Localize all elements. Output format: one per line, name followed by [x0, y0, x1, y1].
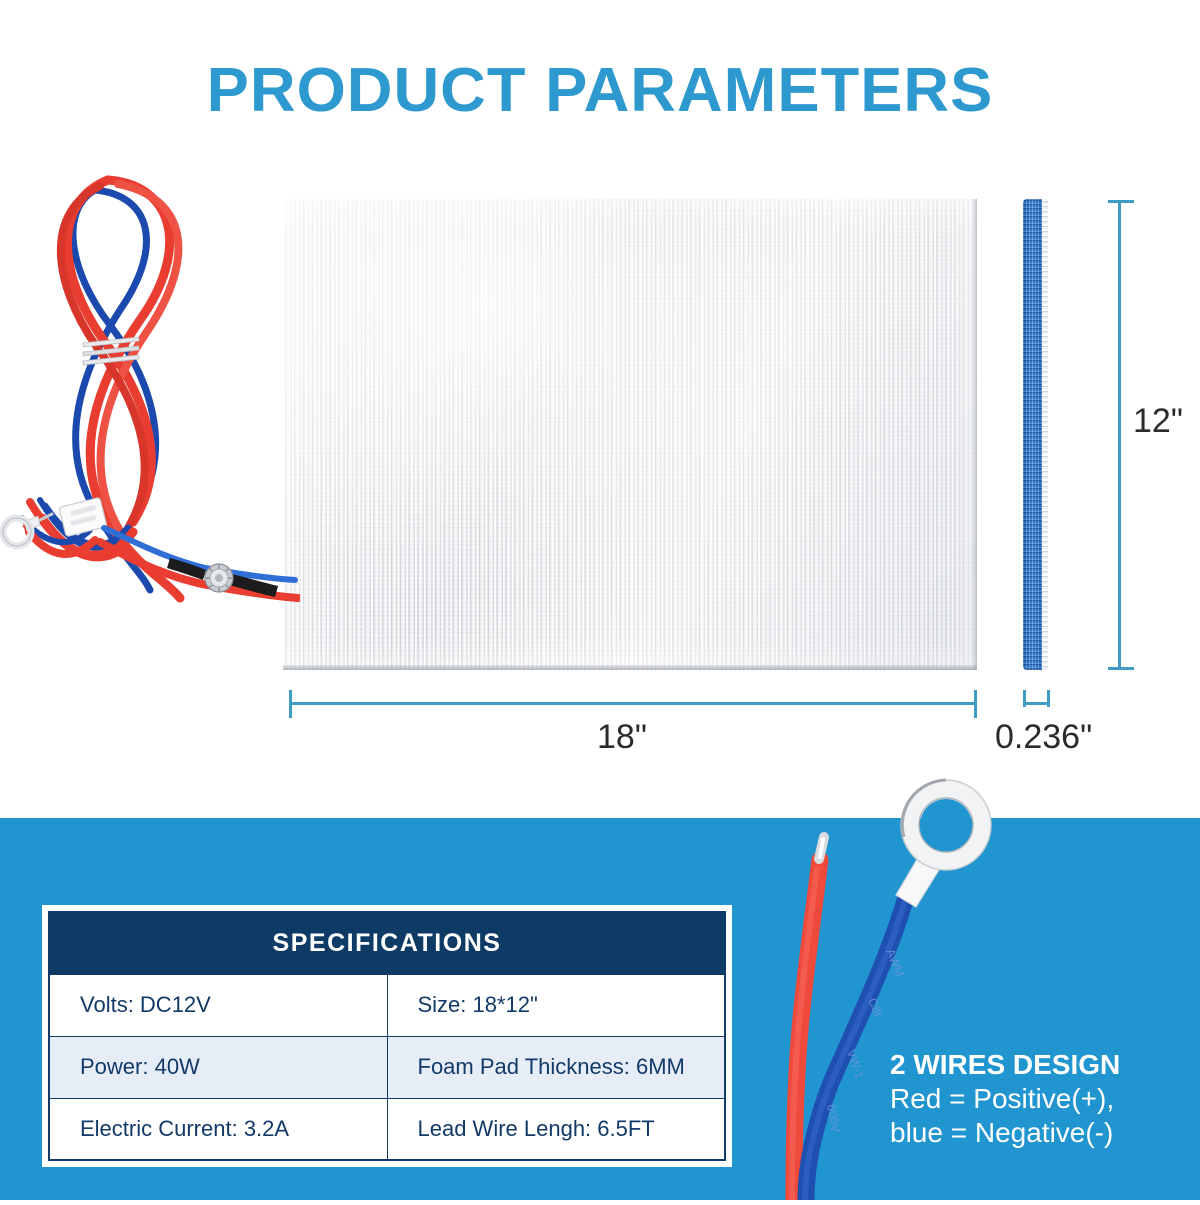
spec-cell-wire-length: Lead Wire Lengh: 6.5FT: [387, 1098, 725, 1160]
thickness-dimension-cap-right: [1047, 690, 1050, 707]
thermostat-disc: [205, 564, 233, 592]
wire-print-600v: 600V: [824, 1103, 843, 1133]
width-dimension-cap-left: [289, 690, 292, 718]
spec-cell-volts: Volts: DC12V: [49, 974, 387, 1036]
product-parameters-page: PRODUCT PARAMETERS: [0, 0, 1200, 1200]
height-dimension-line: [1118, 200, 1121, 670]
specifications-panel: SPECIFICATIONS Volts: DC12V Size: 18*12"…: [42, 905, 732, 1167]
pad-bottom-edge: [283, 665, 977, 670]
foam-strip-image: [1023, 199, 1048, 670]
top-product-diagram-section: PRODUCT PARAMETERS: [0, 0, 1200, 818]
two-wires-blue-line: blue = Negative(-): [890, 1116, 1190, 1150]
wire-harness-image: [0, 150, 300, 650]
table-row: Power: 40W Foam Pad Thickness: 6MM: [49, 1036, 725, 1098]
foam-strip-silver-film: [1042, 199, 1048, 670]
specifications-table: SPECIFICATIONS Volts: DC12V Size: 18*12"…: [48, 911, 726, 1161]
height-dimension-cap-bottom: [1108, 667, 1134, 670]
specifications-header: SPECIFICATIONS: [49, 912, 725, 974]
spec-cell-size: Size: 18*12": [387, 974, 725, 1036]
pad-right-edge: [973, 199, 977, 670]
spec-cell-thickness: Foam Pad Thickness: 6MM: [387, 1036, 725, 1098]
spec-cell-current: Electric Current: 3.2A: [49, 1098, 387, 1160]
width-dimension-label: 18": [597, 718, 647, 757]
spec-cell-power: Power: 40W: [49, 1036, 387, 1098]
heating-pad-image: [283, 199, 977, 670]
page-title: PRODUCT PARAMETERS: [0, 55, 1200, 126]
width-dimension-cap-right: [974, 690, 977, 718]
thickness-dimension-line: [1023, 702, 1050, 705]
thickness-dimension-cap-left: [1023, 690, 1026, 707]
jst-connector: [59, 497, 107, 536]
height-dimension-label: 12": [1133, 402, 1183, 441]
height-dimension-cap-top: [1108, 200, 1134, 203]
table-row: Volts: DC12V Size: 18*12": [49, 974, 725, 1036]
two-wires-design-text-block: 2 WIRES DESIGN Red = Positive(+), blue =…: [890, 1048, 1190, 1150]
ring-terminal-icon: [896, 780, 991, 907]
two-wires-design-title: 2 WIRES DESIGN: [890, 1048, 1190, 1082]
table-row: Electric Current: 3.2A Lead Wire Lengh: …: [49, 1098, 725, 1160]
thickness-dimension-label: 0.236": [995, 718, 1092, 757]
width-dimension-line: [289, 702, 977, 705]
two-wires-red-line: Red = Positive(+),: [890, 1082, 1190, 1116]
pad-sheen-overlay: [283, 199, 977, 670]
